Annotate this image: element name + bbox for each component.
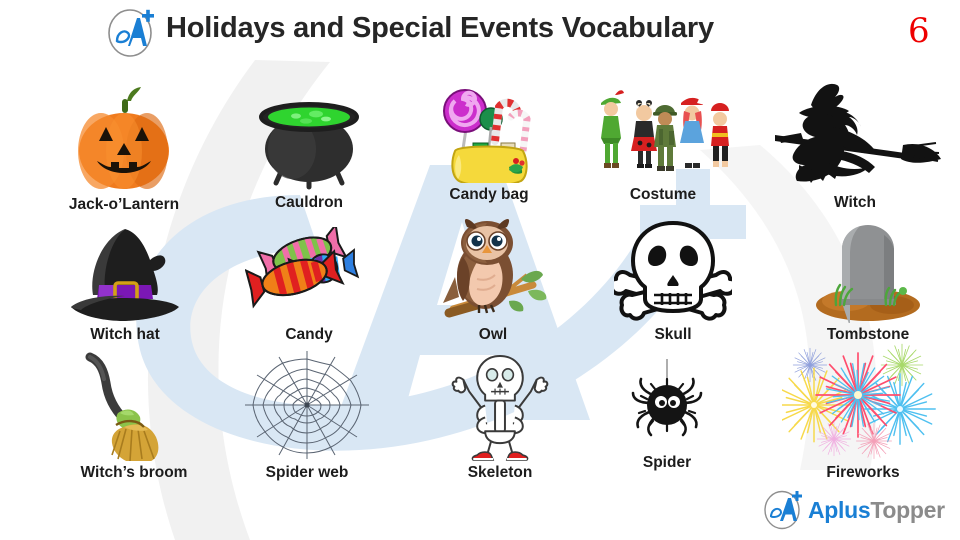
vocab-item-jack-o-lantern[interactable]: Jack-o’Lantern (46, 74, 202, 214)
vocab-item-tombstone[interactable]: Tombstone (790, 216, 946, 344)
page-number: 6 (908, 11, 930, 51)
skeleton-icon (447, 352, 553, 461)
vocab-item-fireworks[interactable]: Fireworks (780, 342, 946, 482)
vocab-label: Skeleton (468, 464, 533, 482)
vocab-item-spider[interactable]: Spider (612, 354, 722, 472)
candy-icon (245, 227, 373, 323)
broom-icon (74, 351, 194, 461)
vocab-item-spider-web[interactable]: Spider web (232, 348, 382, 482)
jack-o-lantern-icon (65, 85, 183, 193)
fireworks-icon (782, 343, 944, 461)
vocab-item-skull[interactable]: Skull (600, 212, 746, 344)
vocab-item-costume[interactable]: Costume (588, 84, 738, 204)
vocab-item-cauldron[interactable]: Cauldron (234, 76, 384, 212)
vocab-item-candy[interactable]: Candy (236, 220, 382, 344)
vocab-label: Spider web (266, 464, 349, 482)
brand-name-topper: Topper (870, 497, 944, 523)
vocab-item-witchs-broom[interactable]: Witch’s broom (56, 346, 212, 482)
vocab-label: Candy bag (449, 186, 528, 204)
owl-icon (433, 217, 553, 323)
vocab-label: Witch hat (90, 326, 160, 344)
vocab-label: Skull (654, 326, 691, 344)
spider-web-icon (243, 349, 371, 461)
footer-brand-logo[interactable]: AplusTopper (762, 490, 945, 530)
witch-on-broom-icon (765, 81, 945, 191)
vocab-item-witch[interactable]: Witch (762, 78, 948, 212)
page-header: Holidays and Special Events Vocabulary 6 (0, 0, 960, 66)
vocab-label: Witch’s broom (81, 464, 188, 482)
vocabulary-grid: Jack-o’Lantern Cauldron (0, 64, 960, 484)
skull-and-crossbones-icon (614, 219, 732, 323)
cauldron-icon (250, 91, 368, 191)
vocab-label: Costume (630, 186, 696, 204)
page-title: Holidays and Special Events Vocabulary (166, 12, 714, 45)
vocab-label: Cauldron (275, 194, 343, 212)
aplustopper-logo-icon (104, 8, 160, 58)
brand-name-aplus: Aplus (808, 497, 870, 523)
brand-name: AplusTopper (808, 497, 945, 524)
vocab-item-owl[interactable]: Owl (420, 212, 566, 344)
vocab-item-skeleton[interactable]: Skeleton (436, 352, 564, 482)
vocab-label: Owl (479, 326, 507, 344)
tombstone-icon (806, 225, 930, 323)
vocab-label: Spider (643, 454, 691, 472)
vocab-label: Candy (285, 326, 332, 344)
vocab-item-witch-hat[interactable]: Witch hat (50, 212, 200, 344)
candy-bag-icon (431, 77, 547, 183)
vocab-label: Witch (834, 194, 876, 212)
vocab-item-candy-bag[interactable]: Candy bag (418, 72, 560, 204)
witch-hat-icon (63, 223, 187, 323)
aplustopper-logo-icon (762, 490, 806, 530)
costume-children-icon (593, 87, 733, 183)
spider-icon (619, 359, 715, 451)
vocab-label: Fireworks (826, 464, 899, 482)
